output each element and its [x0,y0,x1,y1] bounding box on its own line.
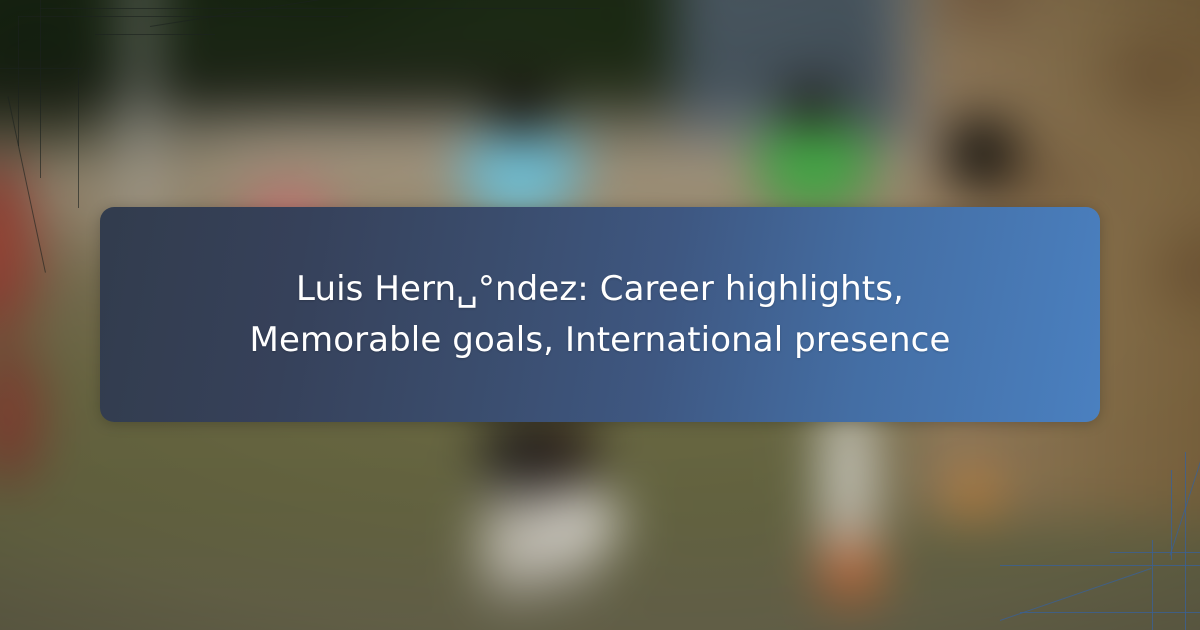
background-leg-left [484,410,541,600]
background-equipment-dark [940,118,1022,189]
page-title: Luis Hern␣°ndez: Career highlights, Memo… [208,264,993,366]
title-card-panel: Luis Hern␣°ndez: Career highlights, Memo… [100,207,1100,422]
background-football [543,489,625,560]
background-goal-post-left [124,0,157,236]
background-goal-post-right [892,0,922,173]
background-player-head-right [784,82,838,133]
background-shoe-orange-left [838,552,884,592]
background-goal-crossbar [97,114,859,131]
background-dark-bar [0,66,559,101]
background-shoe-orange-right [954,473,995,516]
og-card-canvas: Luis Hern␣°ndez: Career highlights, Memo… [0,0,1200,630]
background-player-head-left [491,86,551,141]
